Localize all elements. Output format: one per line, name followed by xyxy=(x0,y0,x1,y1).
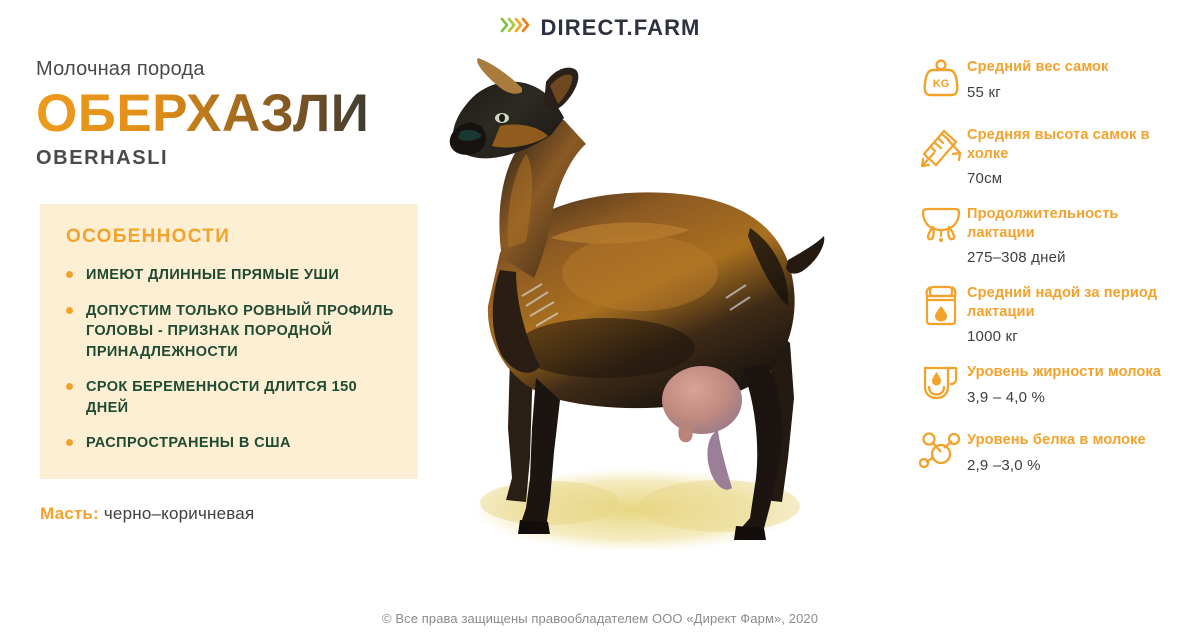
stat-label: Уровень жирности молока xyxy=(967,364,1161,380)
stat-value: 2,9 –3,0 % xyxy=(967,457,1190,474)
stat-label: Уровень белка в молоке xyxy=(967,432,1146,448)
feature-text: ДОПУСТИМ ТОЛЬКО РОВНЫЙ ПРОФИЛЬ ГОЛОВЫ - … xyxy=(86,301,394,363)
stat-average-height: Средняя высота самок в холке 70см xyxy=(915,124,1190,187)
stat-label: Средний надой за период лактации xyxy=(967,285,1157,320)
coat-colour-value: черно–коричневая xyxy=(104,504,255,523)
udder-icon xyxy=(915,203,967,255)
brand-logo: DIRECT.FARM xyxy=(0,14,1200,41)
list-item: РАСПРОСТРАНЕНЫ В США xyxy=(66,433,394,454)
feature-text: ИМЕЮТ ДЛИННЫЕ ПРЯМЫЕ УШИ xyxy=(86,265,339,286)
page-title: ОБЕРХАЗЛИ xyxy=(36,87,369,141)
stat-value: 1000 кг xyxy=(967,328,1190,345)
bullet-dot-icon xyxy=(66,383,73,390)
svg-text:KG: KG xyxy=(933,78,950,90)
stat-milk-fat: Уровень жирности молока 3,9 – 4,0 % xyxy=(915,361,1190,413)
copyright-footer: © Все права защищены правообладателем ОО… xyxy=(0,611,1200,626)
coat-colour-line: Масть: черно–коричневая xyxy=(40,504,254,524)
bullet-dot-icon xyxy=(66,271,73,278)
stat-lactation-duration: Продолжительность лактации 275–308 дней xyxy=(915,203,1190,266)
milk-jug-fat-icon xyxy=(915,361,967,413)
feature-text: РАСПРОСТРАНЕНЫ В США xyxy=(86,433,291,454)
stat-milk-protein: Уровень белка в молоке 2,9 –3,0 % xyxy=(915,429,1190,481)
chevron-logo-icon xyxy=(500,14,530,41)
stat-label: Средняя высота самок в холке xyxy=(967,127,1150,162)
ruler-height-icon xyxy=(915,124,967,176)
stat-label: Средний вес самок xyxy=(967,59,1108,75)
goat-watercolor-svg xyxy=(350,48,910,568)
goat-udder xyxy=(662,366,742,434)
brand-name: DIRECT.FARM xyxy=(541,15,701,41)
stats-panel: KG Средний вес самок 55 кг Средняя вы xyxy=(915,56,1190,497)
list-item: СРОК БЕРЕМЕННОСТИ ДЛИТСЯ 150 ДНЕЙ xyxy=(66,377,394,418)
milk-can-icon xyxy=(915,282,967,334)
features-heading: ОСОБЕННОСТИ xyxy=(66,226,394,248)
feature-text: СРОК БЕРЕМЕННОСТИ ДЛИТСЯ 150 ДНЕЙ xyxy=(86,377,394,418)
bullet-dot-icon xyxy=(66,307,73,314)
coat-colour-label: Масть: xyxy=(40,504,99,523)
stat-label: Продолжительность лактации xyxy=(967,206,1119,241)
features-list: ИМЕЮТ ДЛИННЫЕ ПРЯМЫЕ УШИ ДОПУСТИМ ТОЛЬКО… xyxy=(66,265,394,454)
bullet-dot-icon xyxy=(66,439,73,446)
list-item: ИМЕЮТ ДЛИННЫЕ ПРЯМЫЕ УШИ xyxy=(66,265,394,286)
stat-value: 55 кг xyxy=(967,84,1190,101)
list-item: ДОПУСТИМ ТОЛЬКО РОВНЫЙ ПРОФИЛЬ ГОЛОВЫ - … xyxy=(66,301,394,363)
stat-average-weight: KG Средний вес самок 55 кг xyxy=(915,56,1190,108)
features-panel: ОСОБЕННОСТИ ИМЕЮТ ДЛИННЫЕ ПРЯМЫЕ УШИ ДОП… xyxy=(40,204,418,479)
stat-milk-yield: Средний надой за период лактации 1000 кг xyxy=(915,282,1190,345)
stat-value: 3,9 – 4,0 % xyxy=(967,389,1190,406)
stat-value: 70см xyxy=(967,170,1190,187)
weight-kg-icon: KG xyxy=(915,56,967,108)
protein-molecule-icon xyxy=(915,429,967,481)
stat-value: 275–308 дней xyxy=(967,249,1190,266)
goat-illustration xyxy=(350,48,910,568)
